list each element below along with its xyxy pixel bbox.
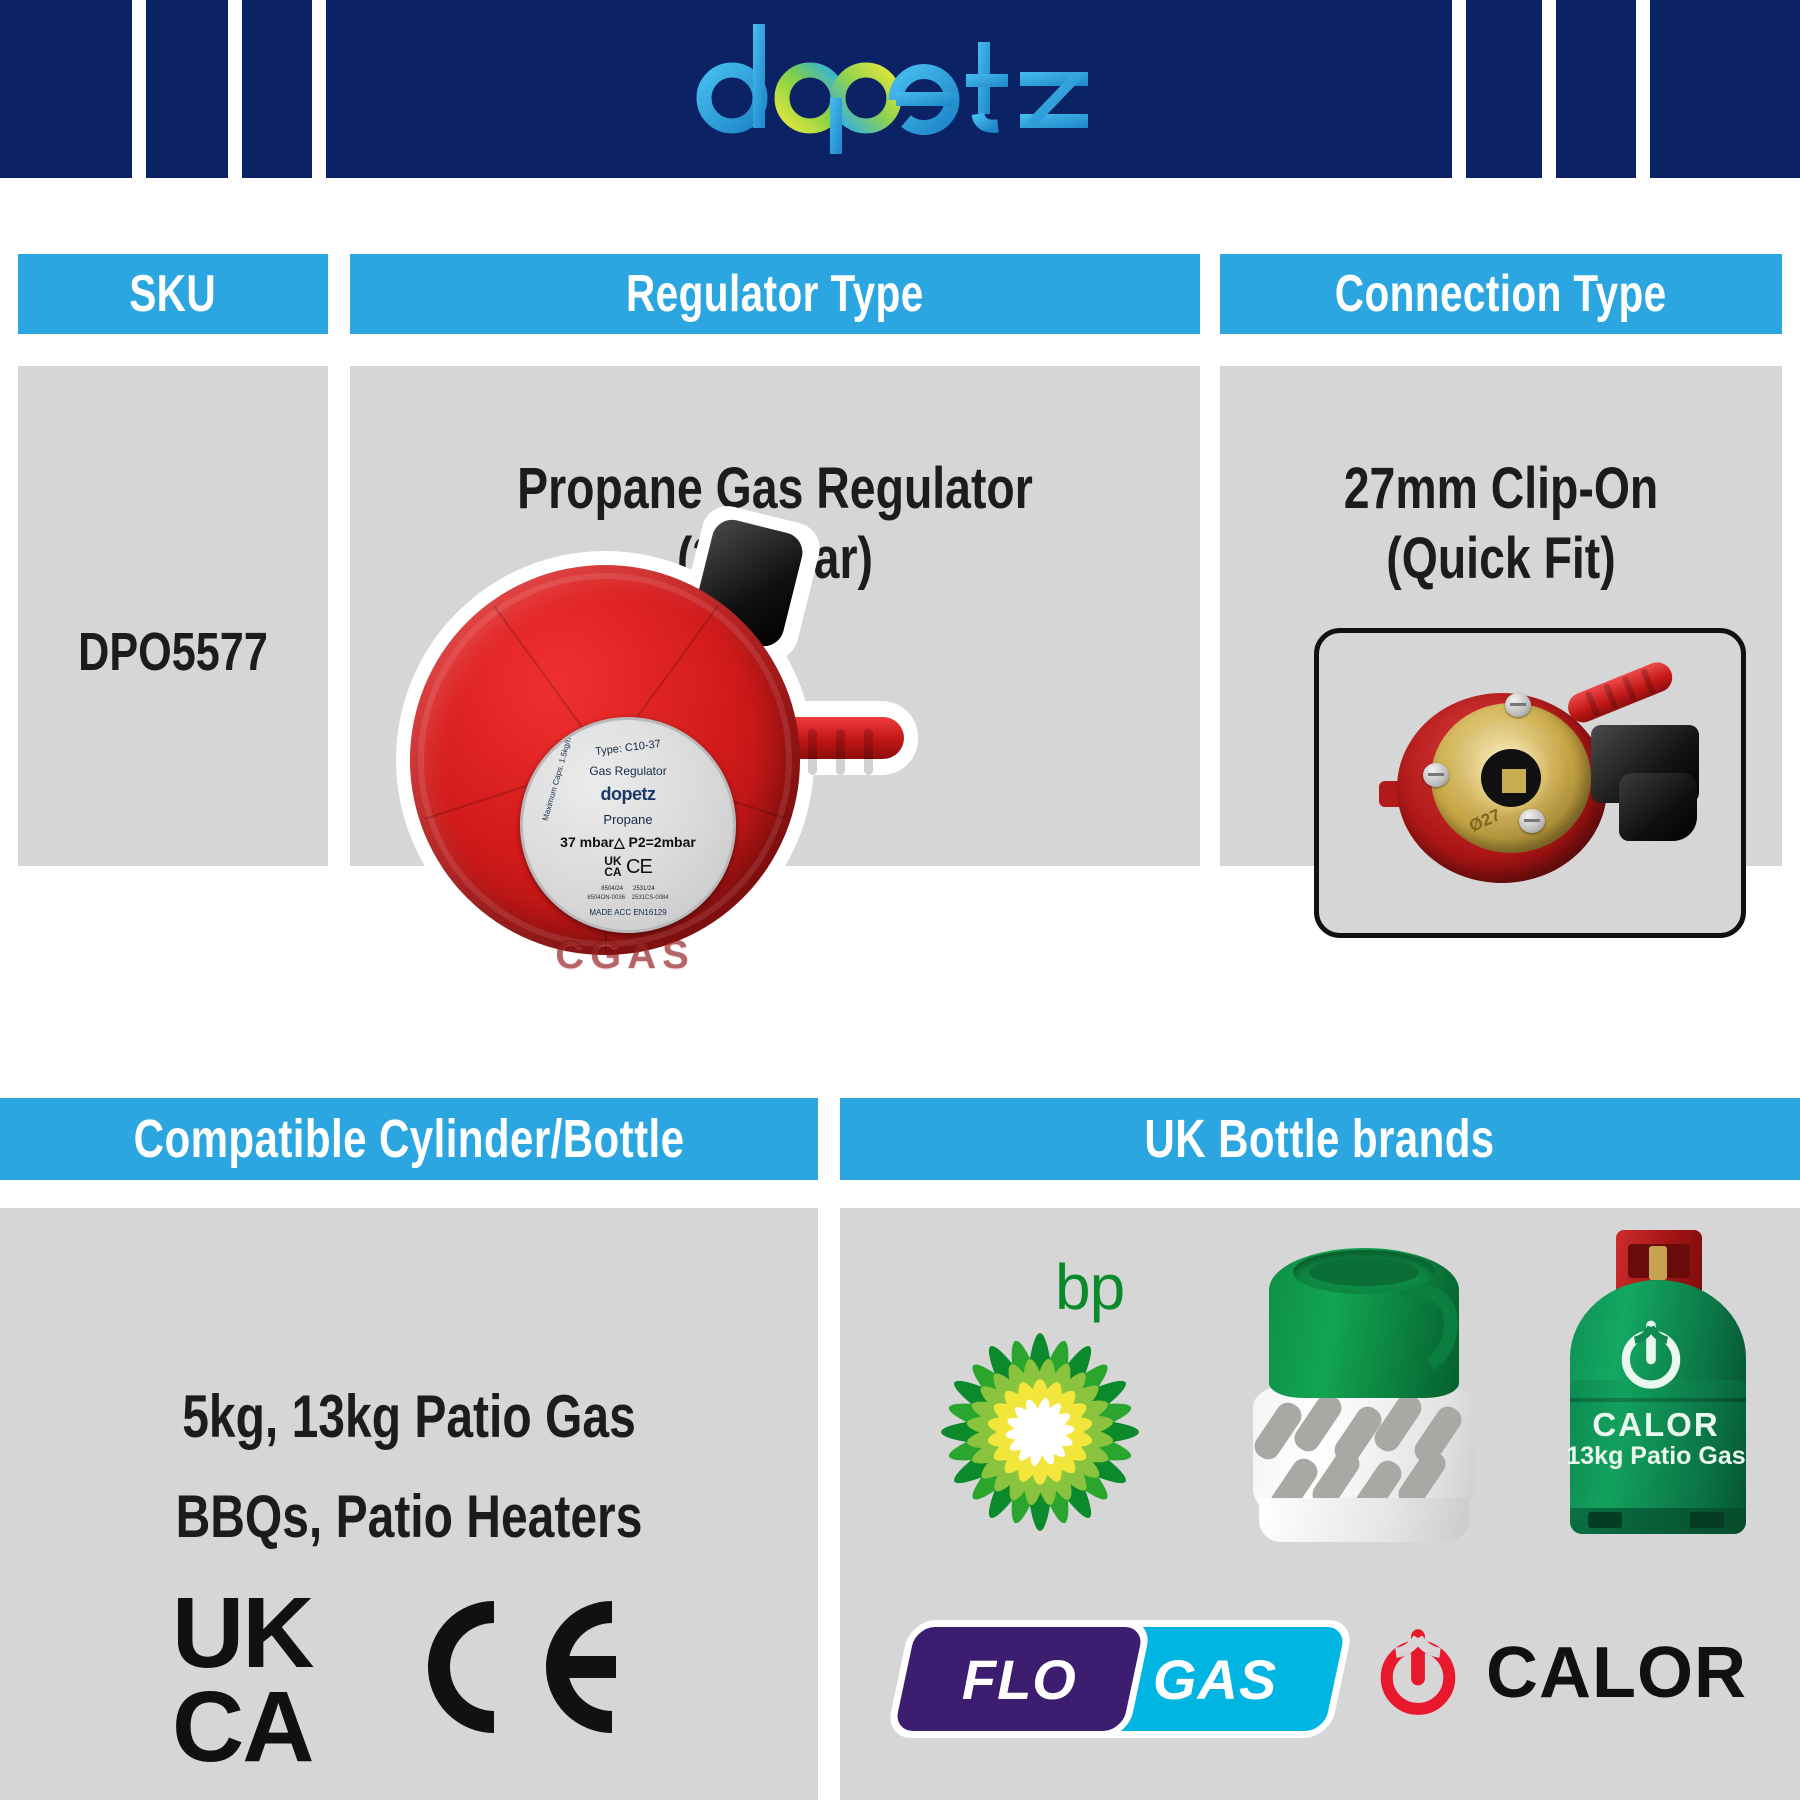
screw (1505, 693, 1531, 717)
calor-power-icon (1372, 1627, 1464, 1719)
regulator-spec-label: Maximum Caps. 1.5kg/h Inlet press. 1-16b… (520, 717, 736, 933)
hose-ridge (1603, 683, 1618, 709)
cylinder-base (1259, 1498, 1469, 1542)
flogas-logo: GAS FLO (898, 1612, 1338, 1740)
compatible-line2: BBQs, Patio Heaters (0, 1416, 818, 1618)
label-cert-left2: 8504ON-0036 (587, 895, 625, 901)
calor-logo: CALOR (1372, 1618, 1772, 1728)
label-cert-right: 2531/24 (633, 886, 655, 892)
label-brand: dopetz (523, 784, 733, 805)
column-header-compatible-cylinder: Compatible Cylinder/Bottle (0, 1098, 818, 1180)
screw (1423, 763, 1449, 787)
bottle-foot-notch (1690, 1512, 1724, 1528)
bottle-foot-notch (1588, 1512, 1622, 1528)
hose-body (1564, 658, 1677, 727)
screw (1519, 809, 1545, 833)
sku-value: DPO5577 (18, 562, 328, 743)
cell-sku: DPO5577 (18, 366, 328, 866)
calor-gas-bottle: CALOR 13kg Patio Gas (1548, 1230, 1764, 1546)
bottle-brand-name: CALOR (1548, 1406, 1764, 1444)
bottle-seam (1570, 1398, 1746, 1402)
label-cert-right2: 2531CS-0084 (632, 895, 669, 901)
calor-wordmark: CALOR (1486, 1632, 1747, 1714)
flogas-flo-text: FLO (962, 1647, 1077, 1712)
label-cert-left: 8504/24 (601, 886, 623, 892)
bottle-capacity: 13kg Patio Gas (1548, 1442, 1764, 1471)
column-header-regulator-type: Regulator Type (350, 254, 1200, 334)
hose-ridge (1622, 675, 1637, 701)
label-ukca-mark: UKCA (604, 856, 621, 878)
dopetz-logo (0, 0, 1800, 178)
clip-lever-foot (1619, 773, 1697, 841)
ukca-mark-uk: UK (172, 1586, 312, 1680)
label-product: Gas Regulator (523, 764, 733, 778)
composite-gas-cylinder (1235, 1248, 1495, 1548)
label-ce-mark: CE (626, 857, 652, 877)
nozzle-ridge (808, 729, 817, 775)
hose-ridge (1585, 690, 1600, 716)
regulator-body: Maximum Caps. 1.5kg/h Inlet press. 1-16b… (410, 565, 800, 955)
calor-flame-icon (1614, 1318, 1688, 1392)
bp-logo: bp {} (900, 1255, 1200, 1545)
bp-helios-rays (890, 1317, 1190, 1547)
connection-photo: Ø27 (1319, 633, 1741, 933)
flogas-flo-block: FLO (885, 1620, 1152, 1738)
cylinder-mouth-inner (1309, 1258, 1419, 1286)
valve-square (1499, 766, 1529, 796)
column-header-connection-type: Connection Type (1220, 254, 1782, 334)
bp-wordmark: bp (1055, 1255, 1124, 1319)
header-banner (0, 0, 1800, 178)
ukca-mark: UK CA (172, 1586, 312, 1774)
label-standard: MADE ACC EN16129 (523, 908, 733, 917)
bottle-valve (1649, 1246, 1667, 1280)
nozzle-ridge (864, 729, 873, 775)
product-infographic: SKU Regulator Type Connection Type DPO55… (0, 0, 1800, 1800)
regulator-emboss-cgas: CGAS (410, 933, 840, 978)
dopetz-logo-svg (690, 14, 1110, 164)
flogas-gas-text: GAS (1153, 1647, 1277, 1712)
ce-mark (398, 1592, 638, 1742)
label-pressure: 37 mbar△ P2=2mbar (523, 834, 733, 851)
connection-photo-box: Ø27 (1314, 628, 1746, 938)
ukca-mark-ca: CA (172, 1680, 312, 1774)
hose-ridge (1640, 668, 1655, 694)
label-gas: Propane (523, 812, 733, 827)
regulator-product-photo: Maximum Caps. 1.5kg/h Inlet press. 1-16b… (390, 505, 950, 985)
column-header-sku: SKU (18, 254, 328, 334)
nozzle-ridge (836, 729, 845, 775)
column-header-uk-bottle-brands: UK Bottle brands (840, 1098, 1800, 1180)
